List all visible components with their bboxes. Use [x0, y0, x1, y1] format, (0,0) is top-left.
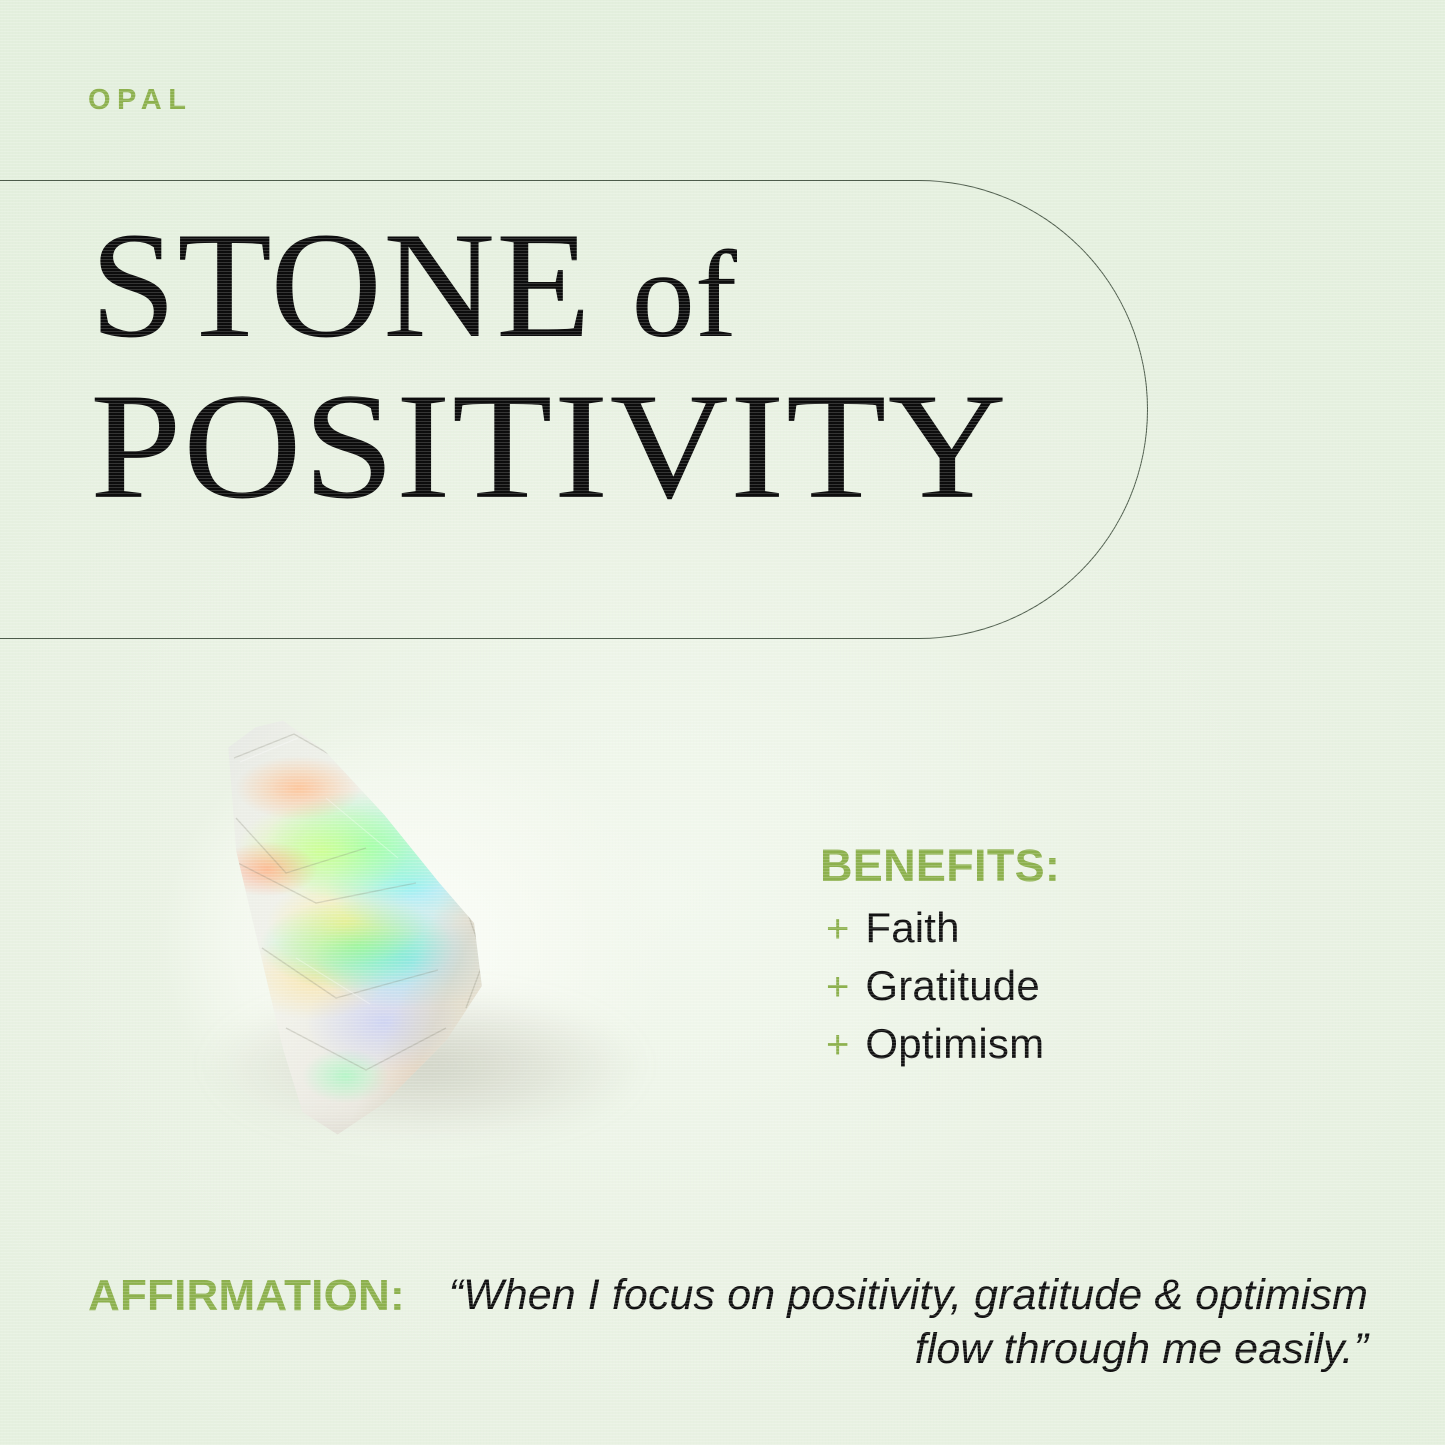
page-title: STONE of POSITIVITY: [90, 212, 1110, 521]
headline-word-stone: STONE: [90, 201, 592, 369]
benefit-label: Gratitude: [865, 962, 1040, 1010]
affirmation-block: AFFIRMATION: “When I focus on positivity…: [88, 1268, 1368, 1376]
benefit-item-faith: + Faith: [826, 904, 1240, 952]
opal-stone-image: [118, 660, 738, 1220]
poster-canvas: OPAL STONE of POSITIVITY: [0, 0, 1445, 1445]
headline-line-1: STONE of: [90, 212, 1130, 359]
benefit-label: Faith: [865, 904, 959, 952]
stone-name-eyebrow: OPAL: [88, 84, 192, 117]
headline-word-of: of: [632, 226, 737, 363]
benefit-item-gratitude: + Gratitude: [826, 962, 1240, 1010]
plus-icon: +: [826, 967, 849, 1007]
benefit-item-optimism: + Optimism: [826, 1020, 1240, 1068]
plus-icon: +: [826, 909, 849, 949]
benefits-block: BENEFITS: + Faith + Gratitude + Optimism: [820, 840, 1240, 1078]
benefits-heading: BENEFITS:: [820, 840, 1240, 892]
headline-line-2: POSITIVITY: [90, 373, 1197, 520]
benefit-label: Optimism: [865, 1020, 1044, 1068]
plus-icon: +: [826, 1025, 849, 1065]
affirmation-label: AFFIRMATION:: [88, 1268, 405, 1323]
